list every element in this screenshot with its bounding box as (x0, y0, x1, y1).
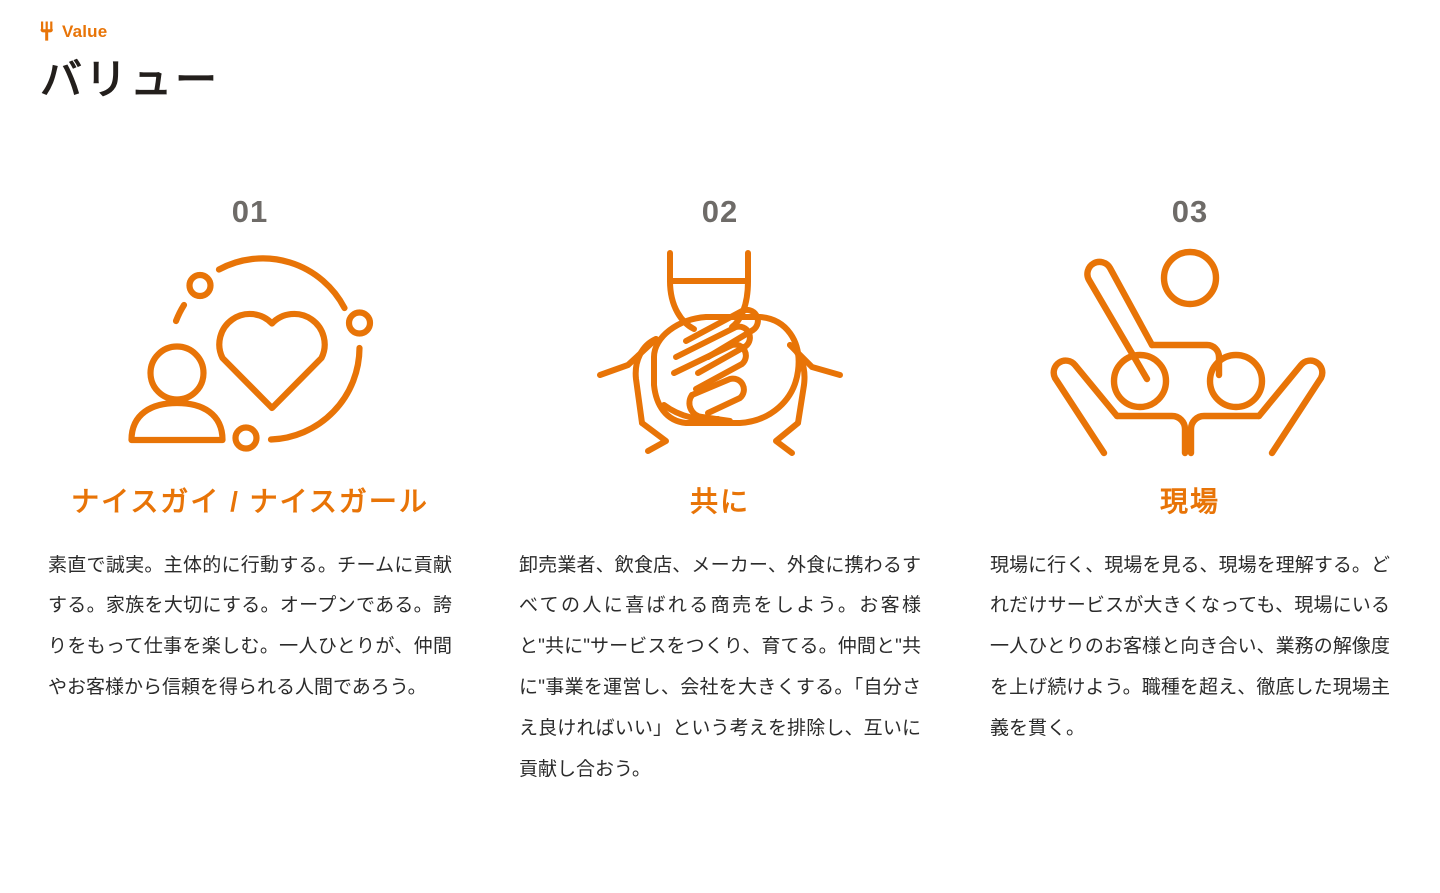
value-body: 現場に行く、現場を見る、現場を理解する。どれだけサービスが大きくなっても、現場に… (990, 546, 1390, 750)
value-body: 素直で誠実。主体的に行動する。チームに貢献する。家族を大切にする。オープンである… (48, 546, 452, 709)
value-heading: 共に (690, 485, 750, 519)
value-card-01: 01 (40, 196, 460, 709)
value-card-03: 03 現場 現場に行く、現場を見る、 (980, 196, 1400, 750)
value-body: 卸売業者、飲食店、メーカー、外食に携わるすべての人に喜ばれる商売をしよう。お客様… (519, 546, 921, 791)
value-icon-wrap (590, 245, 850, 461)
section-header: Value バリュー (40, 18, 220, 104)
person-with-heart-icon (116, 245, 384, 461)
value-card-02: 02 (510, 196, 930, 791)
value-heading: 現場 (1160, 485, 1220, 519)
value-number: 02 (702, 196, 738, 227)
section-eyebrow: Value (40, 18, 220, 44)
values-grid: 01 (40, 196, 1400, 791)
value-heading: ナイスガイ / ナイスガール (71, 485, 429, 519)
fork-icon (40, 21, 55, 41)
three-people-raising-arms-icon (1047, 245, 1333, 461)
section-eyebrow-label: Value (62, 23, 107, 40)
page-title: バリュー (40, 56, 220, 104)
value-number: 03 (1172, 196, 1208, 227)
value-icon-wrap (116, 245, 384, 461)
stacked-hands-icon (590, 245, 850, 461)
value-icon-wrap (1047, 245, 1333, 461)
value-number: 01 (232, 196, 268, 227)
